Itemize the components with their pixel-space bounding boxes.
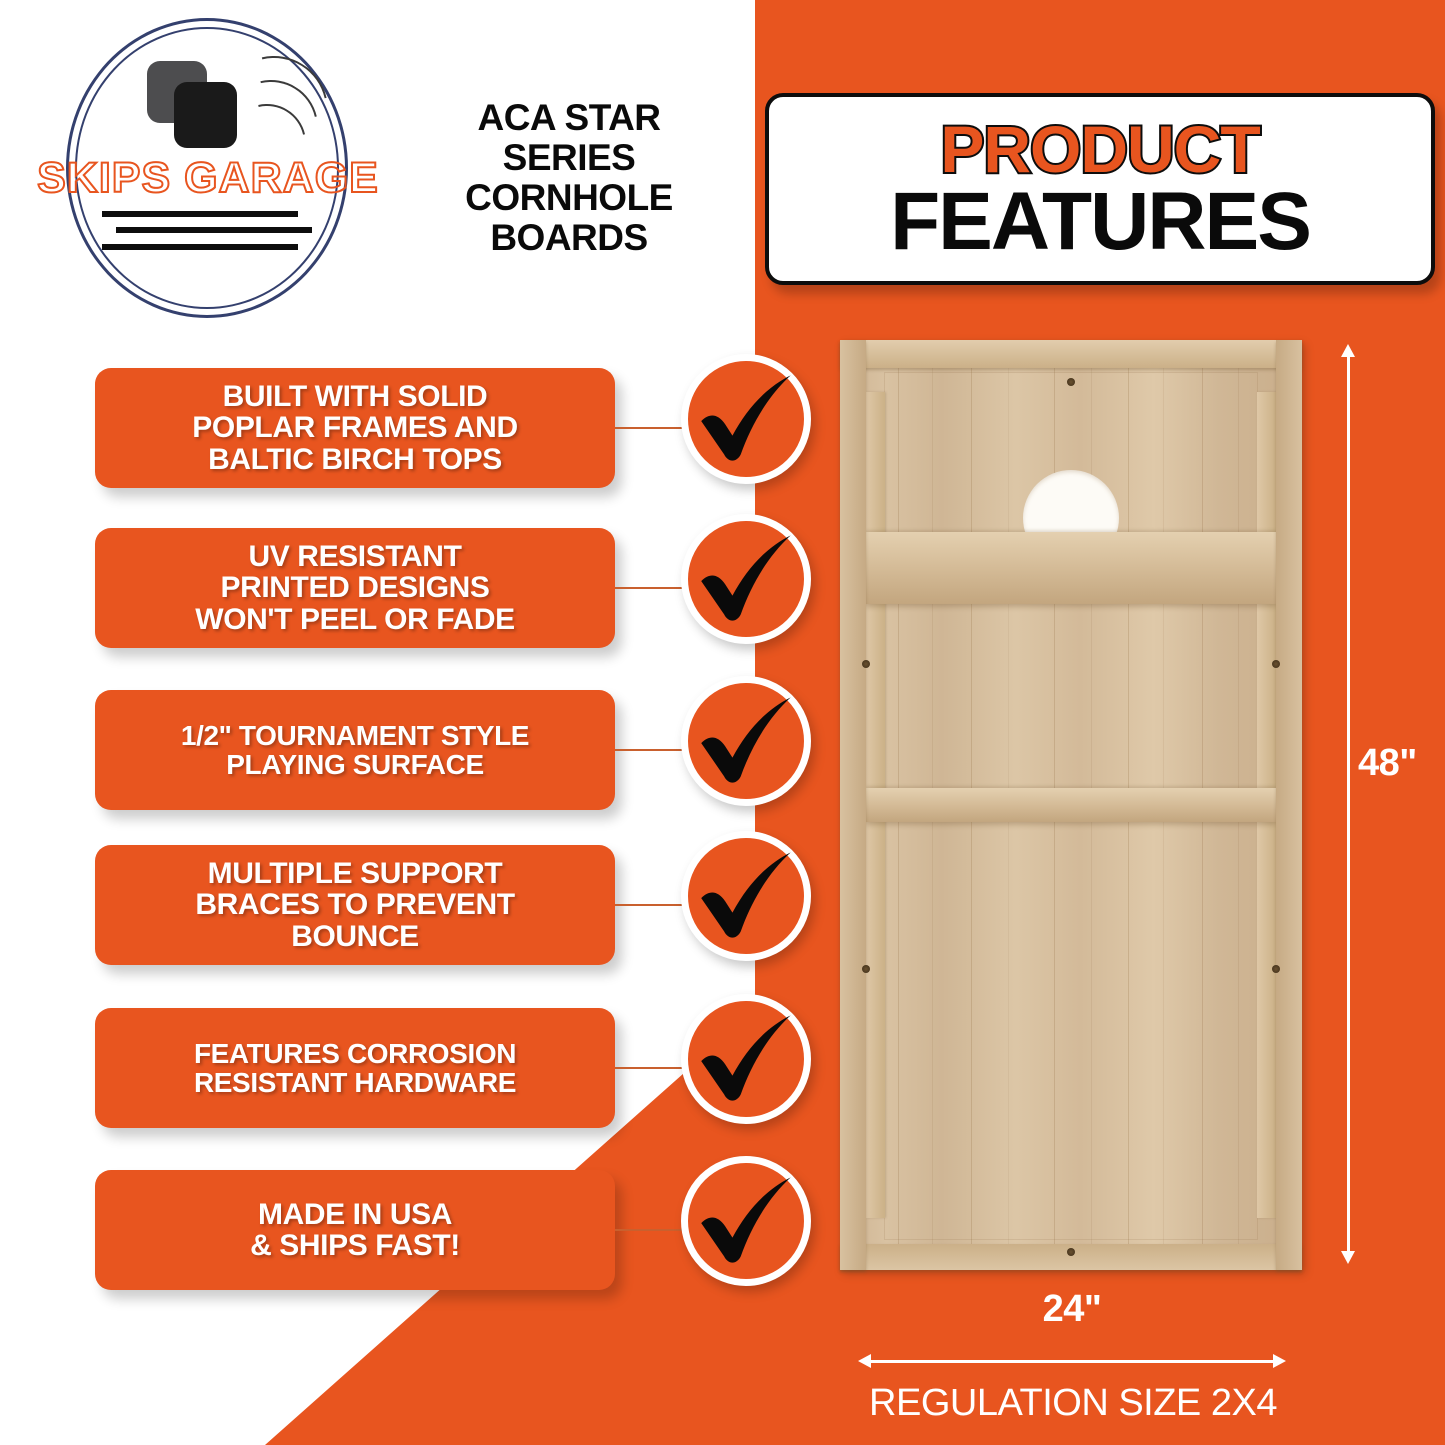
logo-underline-1: [102, 211, 298, 217]
feature-row: UV RESISTANT PRINTED DESIGNS WON'T PEEL …: [0, 528, 830, 648]
feature-label: FEATURES CORROSION RESISTANT HARDWARE: [194, 1039, 516, 1097]
feature-label: UV RESISTANT PRINTED DESIGNS WON'T PEEL …: [195, 541, 514, 635]
checkmark-badge: [681, 354, 811, 484]
screw-icon: [1067, 378, 1075, 386]
cornhole-board-image: [840, 340, 1302, 1270]
feature-row: BUILT WITH SOLID POPLAR FRAMES AND BALTI…: [0, 368, 830, 488]
feature-label: BUILT WITH SOLID POPLAR FRAMES AND BALTI…: [192, 381, 517, 475]
checkmark-badge: [681, 514, 811, 644]
logo-underline-2: [116, 227, 312, 233]
checkmark-icon: [695, 1169, 799, 1273]
feature-pill[interactable]: MADE IN USA & SHIPS FAST!: [95, 1170, 615, 1290]
feature-row: FEATURES CORROSION RESISTANT HARDWARE: [0, 1008, 830, 1128]
screw-icon: [862, 660, 870, 668]
feature-label: MADE IN USA & SHIPS FAST!: [250, 1199, 460, 1261]
checkmark-badge: [681, 831, 811, 961]
feature-row: 1/2" TOURNAMENT STYLE PLAYING SURFACE: [0, 690, 830, 810]
screw-icon: [1272, 965, 1280, 973]
feature-row: MULTIPLE SUPPORT BRACES TO PREVENT BOUNC…: [0, 845, 830, 965]
feature-pill[interactable]: 1/2" TOURNAMENT STYLE PLAYING SURFACE: [95, 690, 615, 810]
width-dimension-arrow: [858, 1350, 1286, 1372]
banner-title-features: FEATURES: [890, 183, 1310, 261]
page-title: ACA STAR SERIES CORNHOLE BOARDS: [404, 98, 734, 258]
screw-icon: [1272, 660, 1280, 668]
board-support-brace-upper: [866, 532, 1276, 604]
feature-pill[interactable]: BUILT WITH SOLID POPLAR FRAMES AND BALTI…: [95, 368, 615, 488]
width-dimension-label: 24": [858, 1288, 1286, 1331]
banner-title-product: PRODUCT: [940, 117, 1259, 182]
checkmark-icon: [695, 844, 799, 948]
feature-label: 1/2" TOURNAMENT STYLE PLAYING SURFACE: [181, 721, 529, 779]
board-rail-left: [840, 340, 866, 1270]
logo-wordmark: SKIPS GARAGE: [28, 154, 388, 203]
feature-pill[interactable]: MULTIPLE SUPPORT BRACES TO PREVENT BOUNC…: [95, 845, 615, 965]
board-rail-top: [840, 340, 1302, 368]
feature-pill[interactable]: UV RESISTANT PRINTED DESIGNS WON'T PEEL …: [95, 528, 615, 648]
product-features-banner: PRODUCT FEATURES: [765, 93, 1435, 285]
feature-pill[interactable]: FEATURES CORROSION RESISTANT HARDWARE: [95, 1008, 615, 1128]
checkmark-badge: [681, 676, 811, 806]
checkmark-badge: [681, 1156, 811, 1286]
checkmark-icon: [695, 689, 799, 793]
regulation-size-note: REGULATION SIZE 2X4: [838, 1382, 1308, 1425]
logo-underline-3: [102, 244, 298, 250]
feature-row: MADE IN USA & SHIPS FAST!: [0, 1170, 830, 1290]
height-dimension-label: 48": [1358, 742, 1417, 785]
checkmark-icon: [695, 527, 799, 631]
screw-icon: [1067, 1248, 1075, 1256]
board-support-brace-lower: [866, 788, 1276, 822]
board-rail-right: [1276, 340, 1302, 1270]
brand-logo: SKIPS GARAGE: [28, 8, 388, 318]
checkmark-icon: [695, 1007, 799, 1111]
screw-icon: [862, 965, 870, 973]
feature-label: MULTIPLE SUPPORT BRACES TO PREVENT BOUNC…: [195, 858, 514, 952]
checkmark-badge: [681, 994, 811, 1124]
checkmark-icon: [695, 367, 799, 471]
height-dimension-arrow: [1337, 344, 1359, 1264]
